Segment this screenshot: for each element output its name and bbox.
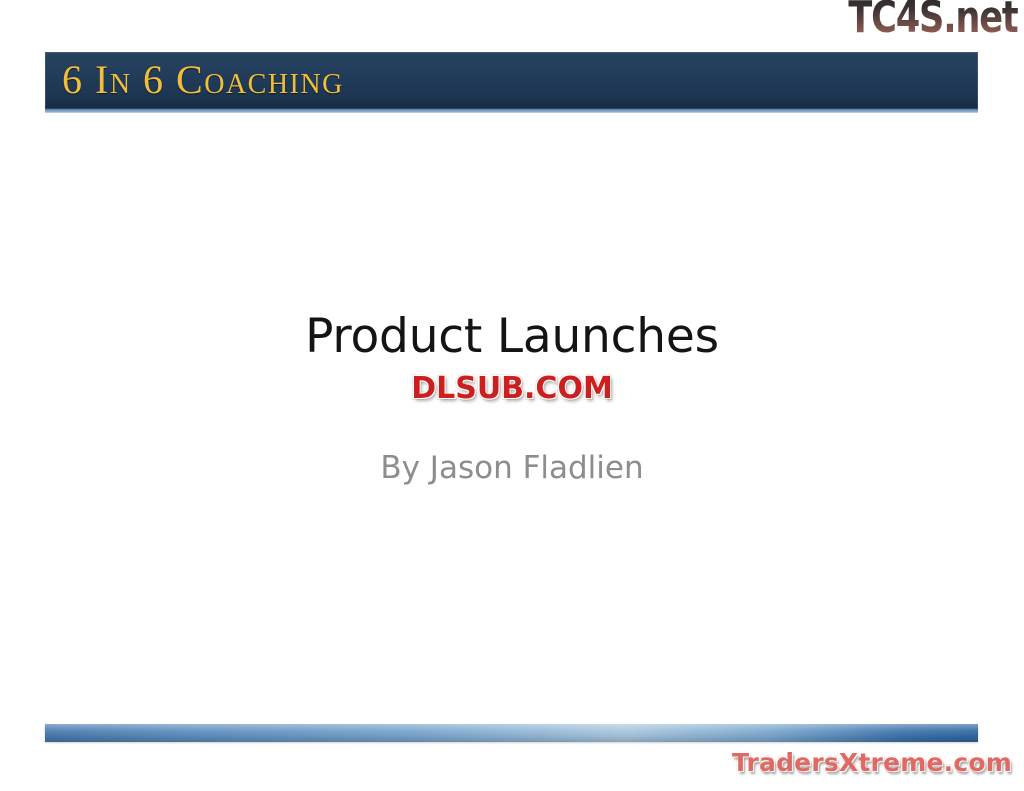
dlsub-watermark: DLSUB.COM [411,374,613,404]
title-block: Product Launches [0,312,1024,361]
tradersxtreme-watermark-text: TradersXtreme.com [732,748,1012,777]
slide-title: Product Launches [0,312,1024,361]
dlsub-watermark-text: DLSUB.COM [411,371,613,406]
header-banner-title: 6 In 6 Coaching [62,60,344,100]
footer-bar [45,724,978,742]
tc4s-watermark: TC4S.net [849,0,1018,40]
header-banner: 6 In 6 Coaching [45,52,978,109]
presentation-slide: TC4S.net 6 In 6 Coaching Product Launche… [0,0,1024,791]
tradersxtreme-watermark: TradersXtreme.com [732,750,1012,775]
slide-subtitle: By Jason Fladlien [0,451,1024,485]
